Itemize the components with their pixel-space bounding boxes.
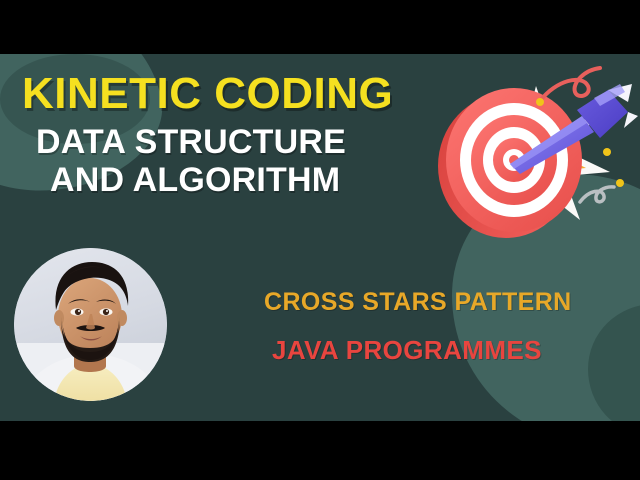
headline-block: KINETIC CODING DATA STRUCTURE AND ALGORI… <box>22 72 442 200</box>
topic-block: CROSS STARS PATTERN JAVA PROGRAMMES <box>264 288 594 366</box>
language-label: JAVA PROGRAMMES <box>272 335 594 366</box>
subtitle-block: DATA STRUCTURE AND ALGORITHM <box>36 123 442 200</box>
subtitle-line-2: AND ALGORITHM <box>50 161 442 199</box>
channel-title: KINETIC CODING <box>22 72 442 117</box>
thumbnail-stage: KINETIC CODING DATA STRUCTURE AND ALGORI… <box>0 0 640 480</box>
avatar <box>14 248 167 401</box>
target-illustration <box>432 54 640 262</box>
dot-icon <box>616 179 624 187</box>
dot-icon <box>536 98 544 106</box>
curly-squiggle-bottom-icon <box>580 187 614 202</box>
letterbox-top <box>0 0 640 54</box>
curly-squiggle-icon <box>540 68 600 101</box>
letterbox-bottom <box>0 421 640 480</box>
topic-label: CROSS STARS PATTERN <box>264 288 594 317</box>
dot-icon <box>603 148 611 156</box>
presenter-portrait-icon <box>14 248 167 401</box>
dartboard-target-icon <box>438 88 582 238</box>
thumbnail-canvas: KINETIC CODING DATA STRUCTURE AND ALGORI… <box>0 54 640 421</box>
subtitle-line-1: DATA STRUCTURE <box>36 123 346 161</box>
